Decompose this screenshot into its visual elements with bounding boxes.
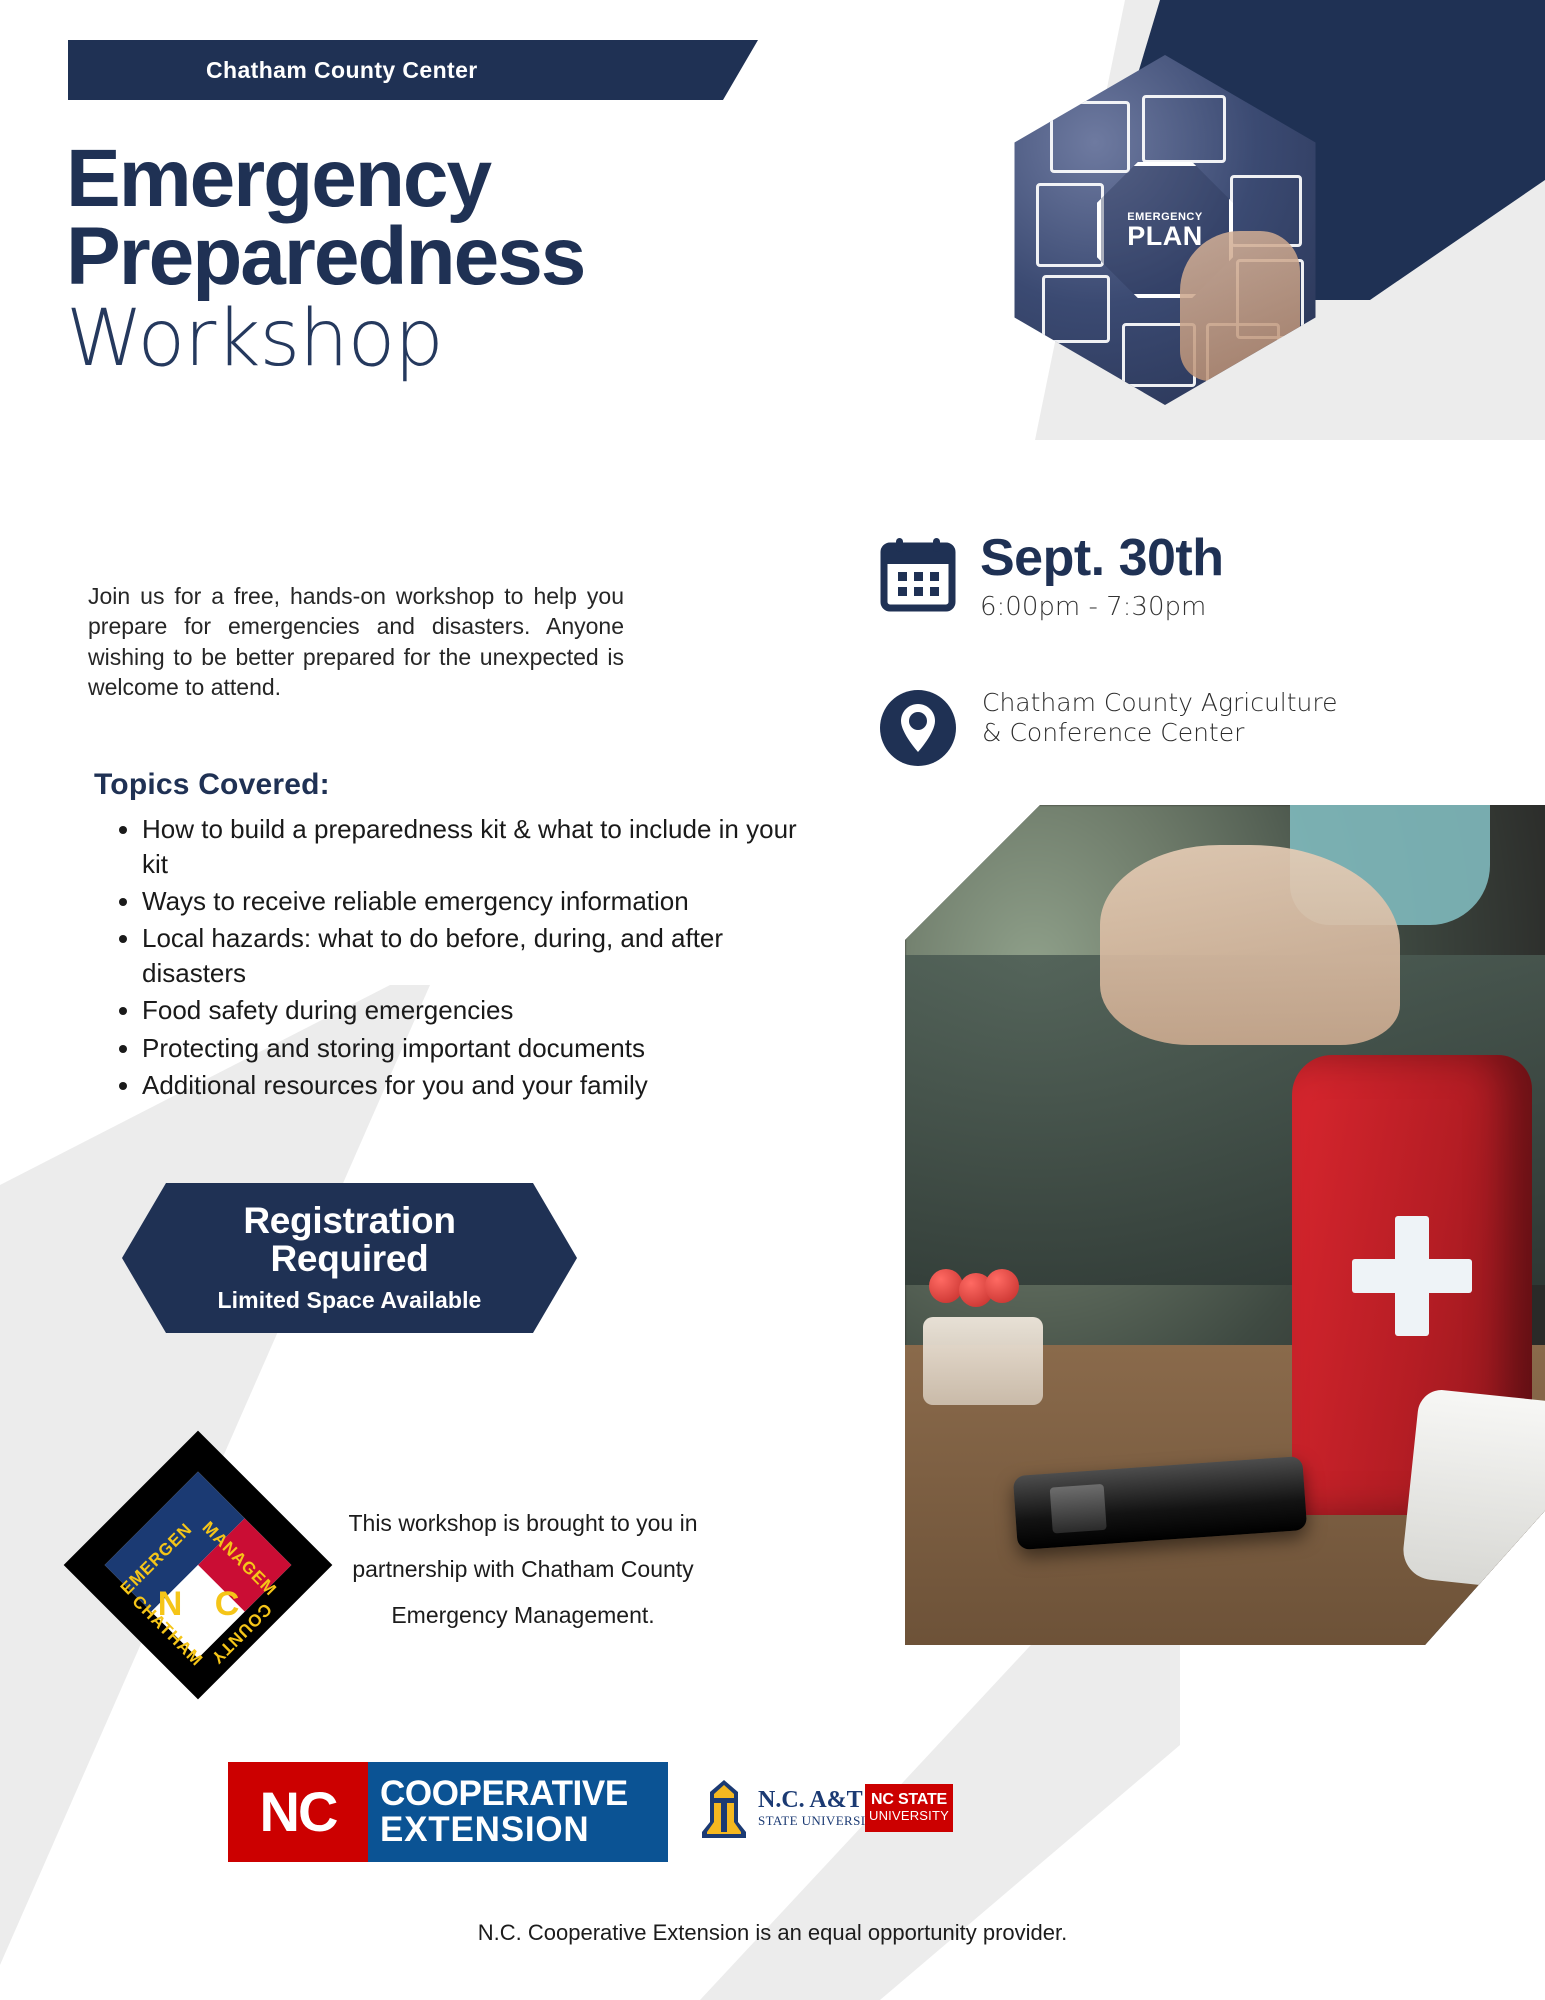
pill-dot bbox=[985, 1269, 1019, 1303]
title-block: Emergency Preparedness Workshop bbox=[66, 140, 806, 378]
emergency-plan-label-bottom: PLAN bbox=[1127, 223, 1203, 250]
event-time: 6:00pm - 7:30pm bbox=[980, 592, 1224, 622]
header-banner: Chatham County Center bbox=[68, 40, 758, 100]
footer-text: N.C. Cooperative Extension is an equal o… bbox=[0, 1920, 1545, 1946]
location-line-2: & Conference Center bbox=[982, 718, 1442, 748]
registration-banner: Registration Required Limited Space Avai… bbox=[122, 1183, 577, 1333]
photo-gauze-roll bbox=[1400, 1388, 1545, 1593]
event-date: Sept. 30th bbox=[980, 532, 1224, 584]
topic-item: Ways to receive reliable emergency infor… bbox=[142, 884, 802, 919]
registration-line-1: Registration bbox=[243, 1202, 455, 1240]
plan-cell-extinguisher-icon bbox=[1036, 183, 1104, 267]
nc-at-state-university-logo: N.C. A&T STATE UNIVERSITY bbox=[700, 1778, 884, 1840]
nc-state-university-logo: NC STATE UNIVERSITY bbox=[865, 1784, 953, 1832]
calendar-icon bbox=[878, 536, 958, 616]
topic-item: How to build a preparedness kit & what t… bbox=[142, 812, 802, 882]
topics-list: How to build a preparedness kit & what t… bbox=[100, 812, 802, 1105]
ncsu-logo-line-1: NC STATE bbox=[871, 1792, 947, 1808]
flyer-page: Chatham County Center EMERGENCY PLAN Eme… bbox=[0, 0, 1545, 2000]
chatham-emergency-management-logo: EMERGENCY MANAGEMENT CHATHAM COUNTY N ★ … bbox=[48, 1415, 348, 1715]
title-line-3: Workshop bbox=[66, 300, 806, 378]
ces-logo-line-2: EXTENSION bbox=[380, 1812, 589, 1848]
pill-dot bbox=[929, 1269, 963, 1303]
sponsor-logos: NC COOPERATIVE EXTENSION N.C. A&T STATE … bbox=[0, 1762, 1545, 1872]
event-date-text: Sept. 30th 6:00pm - 7:30pm bbox=[980, 532, 1224, 622]
title-line-1: Emergency bbox=[66, 140, 806, 218]
ncat-aggie-bell-icon bbox=[700, 1778, 748, 1840]
photo-arm bbox=[1100, 845, 1400, 1045]
photo-pills bbox=[929, 1269, 1015, 1313]
registration-line-2: Required bbox=[271, 1240, 429, 1278]
partnership-text: This workshop is brought to you in partn… bbox=[333, 1500, 713, 1638]
medical-cross-icon bbox=[1352, 1259, 1472, 1293]
topic-item: Protecting and storing important documen… bbox=[142, 1031, 802, 1066]
plan-cell-document-icon bbox=[1050, 101, 1130, 173]
topic-item: Food safety during emergencies bbox=[142, 993, 802, 1028]
first-aid-kit-photo bbox=[905, 805, 1545, 1645]
ces-logo-nc-text: NC bbox=[260, 1784, 337, 1840]
ces-logo-nc-block: NC bbox=[228, 1762, 368, 1862]
topic-item: Additional resources for you and your fa… bbox=[142, 1068, 802, 1103]
topics-heading: Topics Covered: bbox=[94, 768, 330, 802]
intro-paragraph: Join us for a free, hands-on workshop to… bbox=[88, 581, 624, 702]
map-pin-icon bbox=[878, 688, 958, 768]
photo-bandage-pack bbox=[923, 1317, 1043, 1405]
event-date-row: Sept. 30th 6:00pm - 7:30pm bbox=[878, 532, 1224, 622]
event-location-text: Chatham County Agriculture & Conference … bbox=[982, 688, 1442, 747]
title-line-2: Preparedness bbox=[66, 218, 806, 296]
registration-line-3: Limited Space Available bbox=[218, 1287, 482, 1314]
ces-logo-text-block: COOPERATIVE EXTENSION bbox=[368, 1762, 668, 1862]
header-banner-label: Chatham County Center bbox=[206, 57, 478, 84]
topic-item: Local hazards: what to do before, during… bbox=[142, 921, 802, 991]
nc-cooperative-extension-logo: NC COOPERATIVE EXTENSION bbox=[228, 1762, 668, 1862]
ces-logo-line-1: COOPERATIVE bbox=[380, 1776, 628, 1812]
ncsu-logo-line-2: UNIVERSITY bbox=[869, 1808, 949, 1824]
plan-cell-alert-icon bbox=[1142, 95, 1226, 163]
event-location-row: Chatham County Agriculture & Conference … bbox=[878, 688, 1442, 768]
flashlight-band bbox=[1050, 1484, 1107, 1534]
plan-cell-fire-icon bbox=[1042, 275, 1110, 343]
location-line-1: Chatham County Agriculture bbox=[982, 688, 1442, 718]
